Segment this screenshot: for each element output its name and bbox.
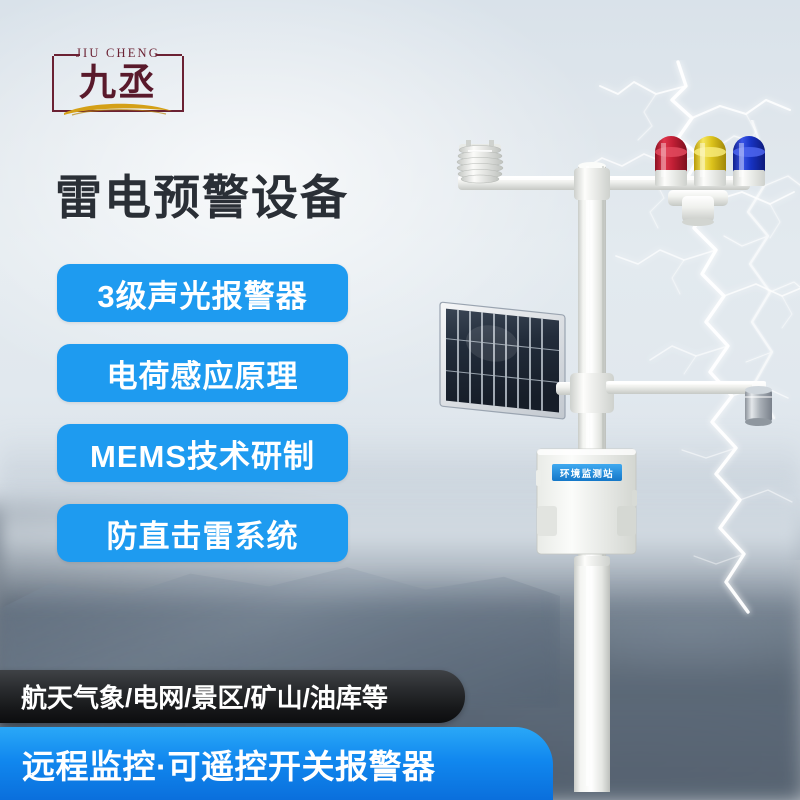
applications-banner: 航天气象/电网/景区/矿山/油库等 — [0, 670, 465, 723]
yellow-alarm-light — [694, 136, 726, 186]
alarm-light-cluster — [655, 136, 765, 186]
applications-banner-text: 航天气象/电网/景区/矿山/油库等 — [21, 678, 388, 715]
logo-swoosh-shape — [62, 100, 174, 116]
enclosure-label: 环境监测站 — [560, 468, 614, 480]
tagline-banner-text: 远程监控·可遥控开关报警器 — [22, 740, 436, 788]
tagline-banner: 远程监控·可遥控开关报警器 — [0, 727, 553, 800]
red-alarm-light — [655, 136, 687, 186]
feature-pill-principle: 电荷感应原理 — [57, 344, 348, 402]
blue-alarm-light — [733, 136, 765, 186]
brand-logo: JIU CHENG 九丞 — [48, 40, 188, 116]
radiation-shield-sensor — [457, 140, 503, 183]
feature-pill-mems: MEMS技术研制 — [57, 424, 348, 482]
logo-english-text: JIU CHENG — [48, 46, 188, 61]
feature-pill-alarm: 3级声光报警器 — [57, 264, 348, 322]
cylindrical-sensor — [745, 386, 772, 426]
poster-canvas: 环境监测站 JIU CHENG 九丞 雷电预警设备 3级声光报警器 电荷感应原理… — [0, 0, 800, 800]
solar-panel — [440, 302, 592, 419]
feature-pill-protection: 防直击雷系统 — [57, 504, 348, 562]
page-title: 雷电预警设备 — [55, 168, 349, 228]
enclosure-box: 环境监测站 — [536, 449, 637, 554]
